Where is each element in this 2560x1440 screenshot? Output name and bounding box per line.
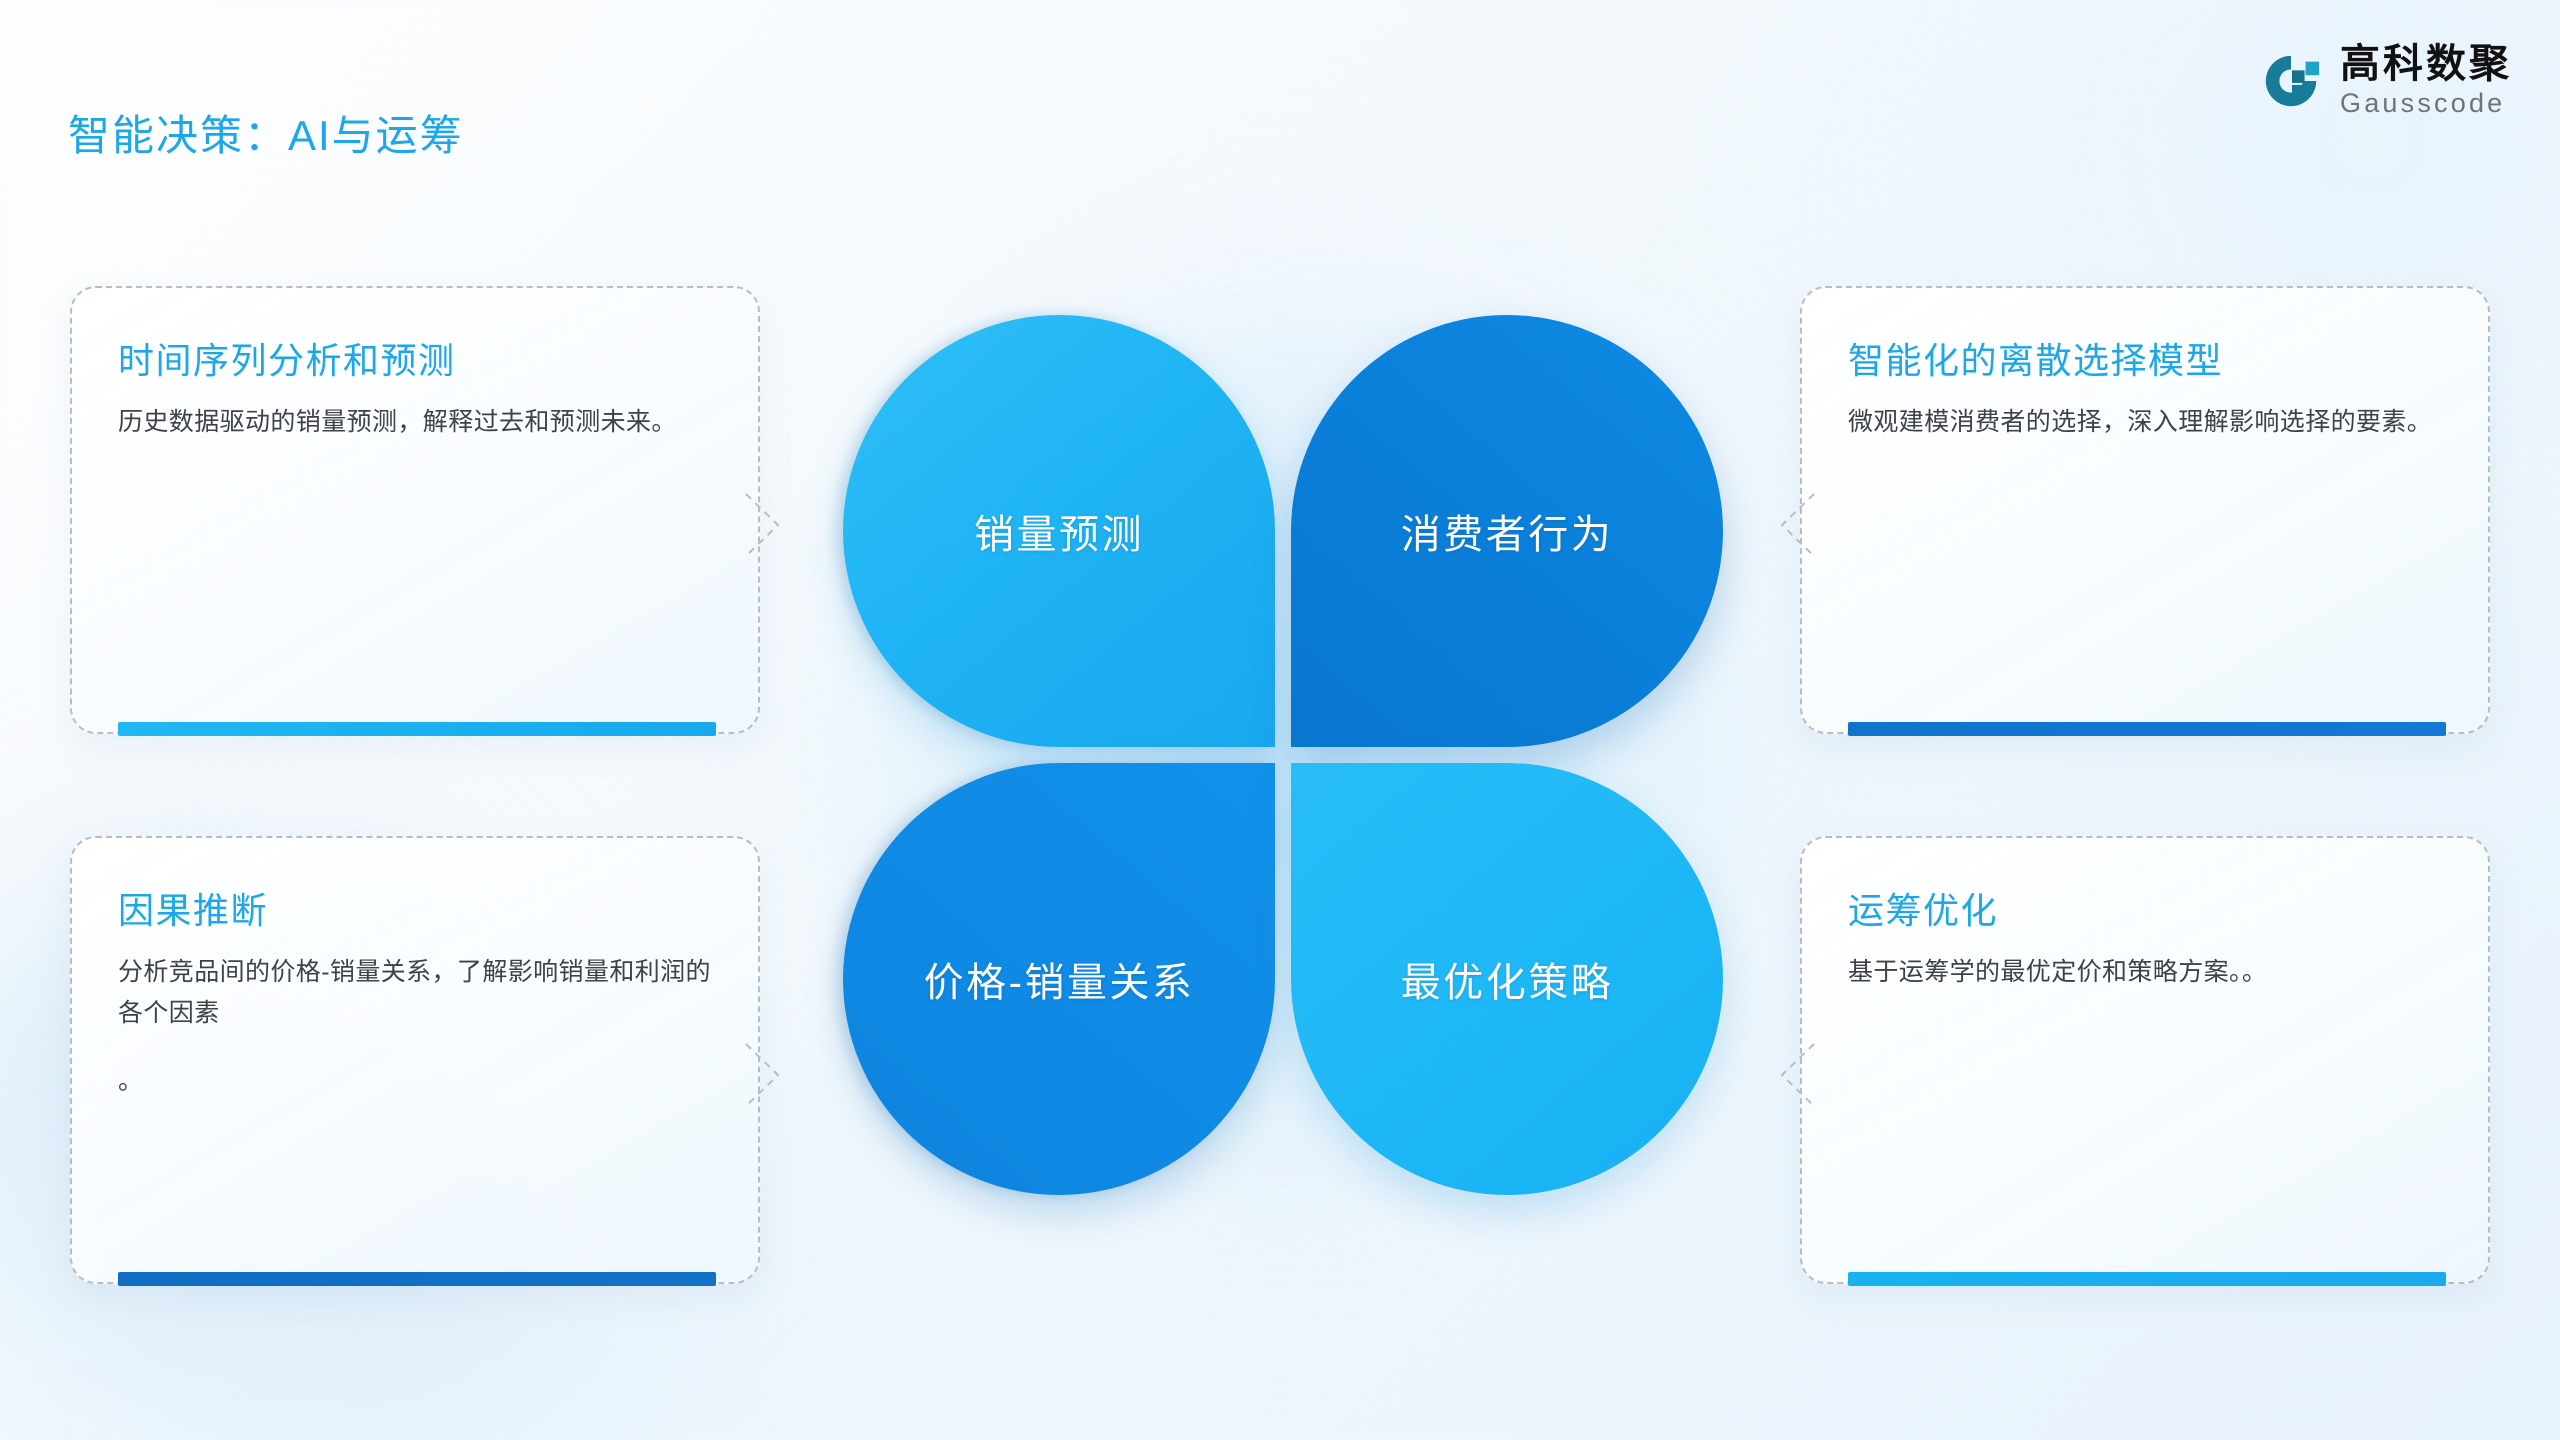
- brand-logo: 高科数聚 Gausscode: [2260, 44, 2512, 117]
- logo-text-en: Gausscode: [2340, 90, 2512, 117]
- card-accent-bar-time-series: [118, 722, 716, 736]
- card-desc-causal-inference: 分析竞品间的价格-销量关系，了解影响销量和利润的各个因素 。: [118, 952, 712, 1102]
- card-accent-bar-operations-research: [1848, 1272, 2446, 1286]
- connector-chevron-left-icon: [1776, 1038, 1820, 1112]
- petal-sales-forecast[interactable]: 销量预测: [843, 315, 1275, 747]
- connector-chevron-right-icon: [740, 1038, 784, 1112]
- card-title-time-series: 时间序列分析和预测: [118, 332, 712, 384]
- card-operations-research[interactable]: 运筹优化 基于运筹学的最优定价和策略方案。。: [1800, 836, 2490, 1284]
- card-desc-discrete-choice: 微观建模消费者的选择，深入理解影响选择的要素。: [1848, 402, 2442, 443]
- petal-optimal-strategy[interactable]: 最优化策略: [1291, 763, 1723, 1195]
- petal-label-optimal-strategy: 最优化策略: [1401, 950, 1614, 1008]
- card-time-series[interactable]: 时间序列分析和预测 历史数据驱动的销量预测，解释过去和预测未来。: [70, 286, 760, 734]
- card-title-causal-inference: 因果推断: [118, 882, 712, 934]
- gausscode-logo-icon: [2260, 50, 2322, 112]
- card-title-discrete-choice: 智能化的离散选择模型: [1848, 332, 2442, 384]
- card-desc-body-causal-inference: 分析竞品间的价格-销量关系，了解影响销量和利润的各个因素: [118, 958, 711, 1027]
- connector-chevron-right-icon: [740, 488, 784, 562]
- petal-label-consumer-behavior: 消费者行为: [1401, 502, 1614, 560]
- petal-price-sales-relation[interactable]: 价格-销量关系: [843, 763, 1275, 1195]
- petal-consumer-behavior[interactable]: 消费者行为: [1291, 315, 1723, 747]
- connector-chevron-left-icon: [1776, 488, 1820, 562]
- logo-text-cn: 高科数聚: [2340, 44, 2512, 84]
- card-title-operations-research: 运筹优化: [1848, 882, 2442, 934]
- four-petal-diagram: 销量预测 消费者行为 价格-销量关系 最优化策略: [843, 315, 1723, 1195]
- card-desc-tail-causal-inference: 。: [118, 1061, 712, 1102]
- card-discrete-choice[interactable]: 智能化的离散选择模型 微观建模消费者的选择，深入理解影响选择的要素。: [1800, 286, 2490, 734]
- card-desc-operations-research: 基于运筹学的最优定价和策略方案。。: [1848, 952, 2442, 993]
- petal-label-price-sales-relation: 价格-销量关系: [924, 950, 1195, 1008]
- card-desc-time-series: 历史数据驱动的销量预测，解释过去和预测未来。: [118, 402, 712, 443]
- petal-label-sales-forecast: 销量预测: [974, 502, 1144, 560]
- card-accent-bar-causal-inference: [118, 1272, 716, 1286]
- card-causal-inference[interactable]: 因果推断 分析竞品间的价格-销量关系，了解影响销量和利润的各个因素 。: [70, 836, 760, 1284]
- card-accent-bar-discrete-choice: [1848, 722, 2446, 736]
- page-title: 智能决策：AI与运筹: [68, 102, 464, 163]
